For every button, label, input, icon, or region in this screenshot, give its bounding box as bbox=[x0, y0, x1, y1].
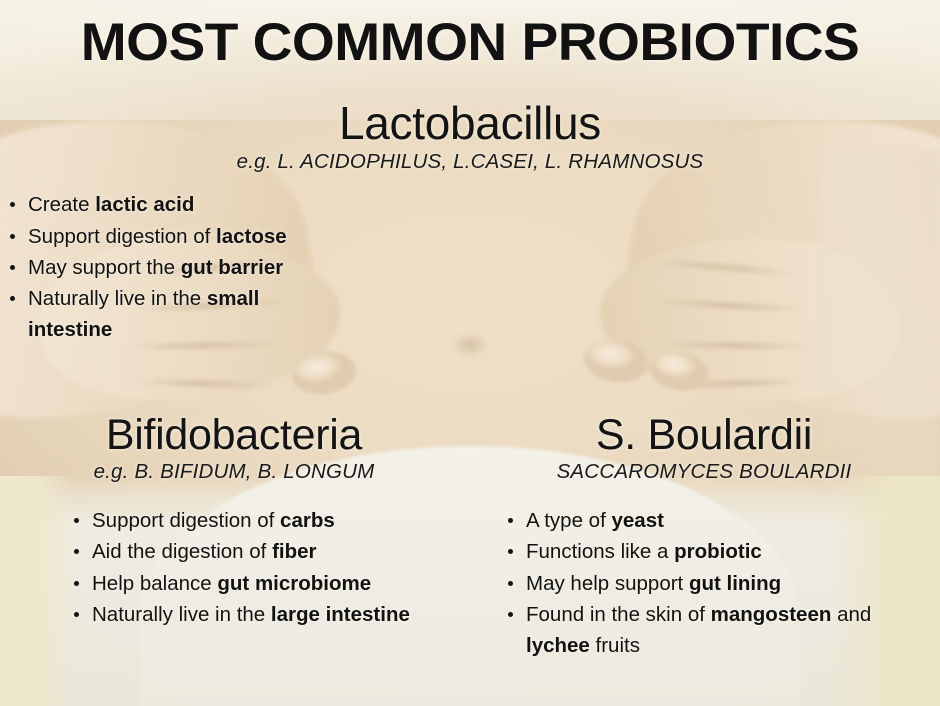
bullet-list-bifidobacteria: Support digestion of carbsAid the digest… bbox=[70, 505, 438, 630]
section-lactobacillus: Lactobacillus e.g. L. ACIDOPHILUS, L.CAS… bbox=[0, 100, 940, 345]
probiotics-infographic: MOST COMMON PROBIOTICS Lactobacillus e.g… bbox=[0, 0, 940, 706]
section-s-boulardii: S. Boulardii SACCAROMYCES BOULARDII A ty… bbox=[478, 413, 930, 661]
section-subheading-bifidobacteria: e.g. B. BIFIDUM, B. LONGUM bbox=[8, 461, 460, 484]
bullet-item: May support the gut barrier bbox=[6, 252, 346, 283]
bullet-item: Naturally live in the small intestine bbox=[6, 283, 346, 345]
bullet-item: Functions like a probiotic bbox=[504, 536, 884, 567]
bullet-item: Create lactic acid bbox=[6, 189, 346, 220]
bullet-item: Naturally live in the large intestine bbox=[70, 599, 438, 630]
bullet-list-lactobacillus: Create lactic acidSupport digestion of l… bbox=[6, 189, 346, 345]
poster-title: MOST COMMON PROBIOTICS bbox=[0, 16, 940, 69]
bullet-item: Help balance gut microbiome bbox=[70, 568, 438, 599]
bullet-item: Aid the digestion of fiber bbox=[70, 536, 438, 567]
bullet-item: Support digestion of carbs bbox=[70, 505, 438, 536]
section-subheading-s-boulardii: SACCAROMYCES BOULARDII bbox=[478, 461, 930, 484]
section-subheading-lactobacillus: e.g. L. ACIDOPHILUS, L.CASEI, L. RHAMNOS… bbox=[0, 151, 940, 174]
section-heading-bifidobacteria: Bifidobacteria bbox=[8, 413, 460, 458]
bullet-item: A type of yeast bbox=[504, 505, 884, 536]
bullet-item: Support digestion of lactose bbox=[6, 221, 346, 252]
bullet-item: May help support gut lining bbox=[504, 568, 884, 599]
section-heading-lactobacillus: Lactobacillus bbox=[0, 100, 940, 148]
bullet-list-s-boulardii: A type of yeastFunctions like a probioti… bbox=[504, 505, 884, 661]
section-bifidobacteria: Bifidobacteria e.g. B. BIFIDUM, B. LONGU… bbox=[8, 413, 460, 630]
bullet-item: Found in the skin of mangosteen and lych… bbox=[504, 599, 884, 661]
section-heading-s-boulardii: S. Boulardii bbox=[478, 413, 930, 458]
poster-content: MOST COMMON PROBIOTICS Lactobacillus e.g… bbox=[0, 0, 940, 706]
